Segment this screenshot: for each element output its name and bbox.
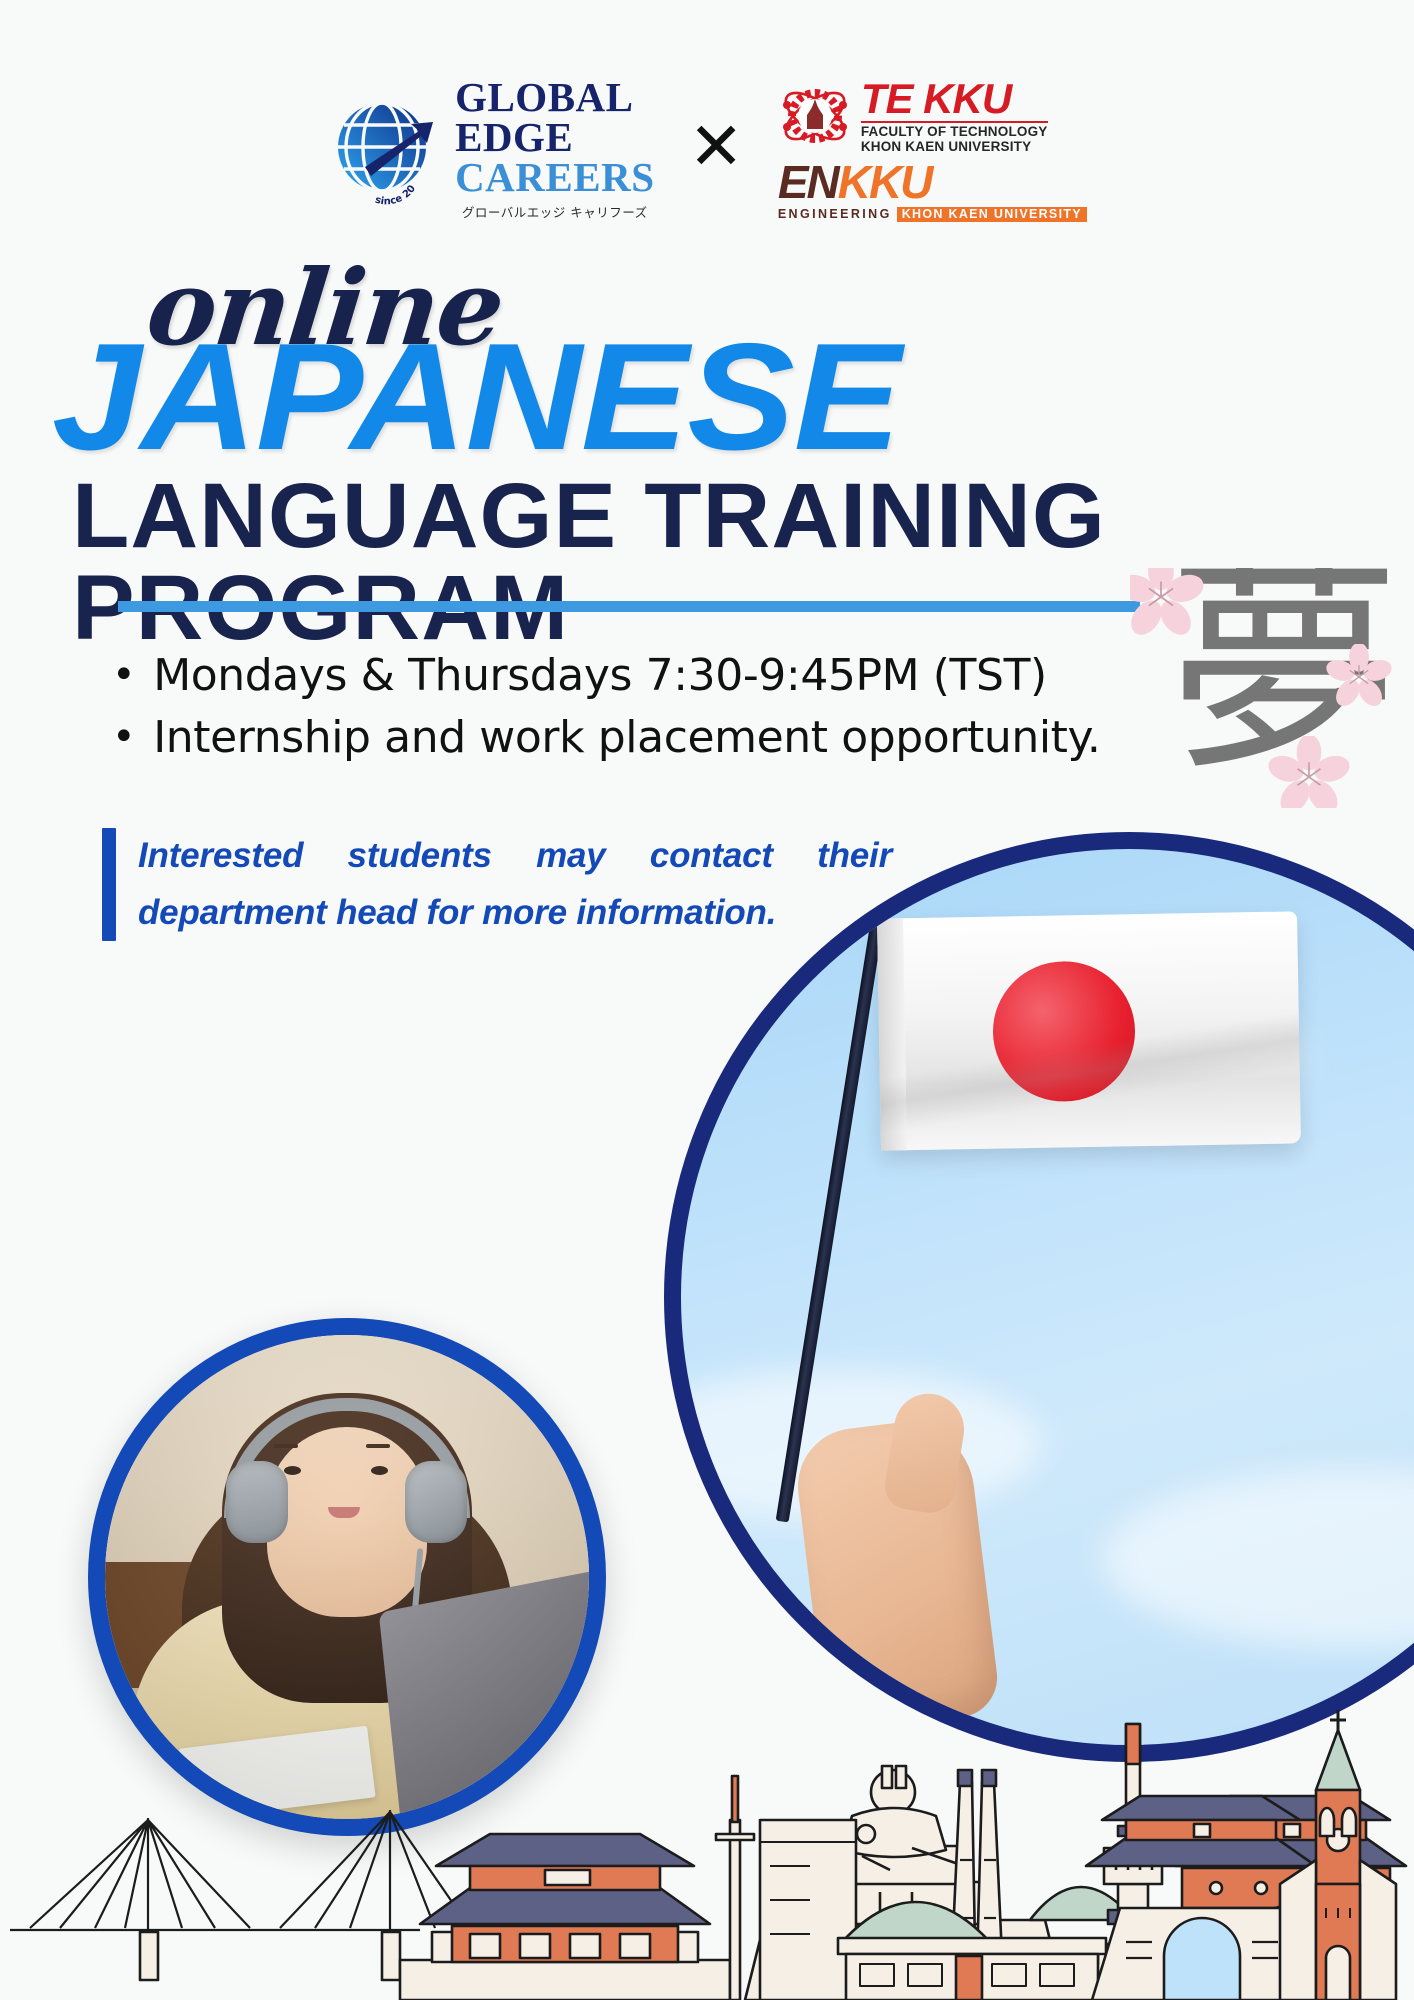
flag-pole-knob bbox=[861, 883, 894, 923]
en-kku-logo: ENKKU ENGINEERING KHON KAEN UNIVERSITY bbox=[778, 159, 1087, 222]
sakura-blossom-icon bbox=[1268, 736, 1350, 808]
title-japanese-headline: JAPANESE bbox=[52, 328, 1303, 468]
flag-cloth bbox=[877, 911, 1301, 1150]
callout-accent-bar bbox=[102, 828, 116, 941]
program-details-list: • Mondays & Thursdays 7:30-9:45PM (TST) … bbox=[112, 645, 1232, 770]
te-kku-university-line: KHON KAEN UNIVERSITY bbox=[861, 140, 1048, 154]
global-edge-careers-logo: since 2025 GLOBAL EDGE CAREERS グローバルエッジ … bbox=[327, 78, 654, 221]
kku-logo-stack: TE KKU FACULTY OF TECHNOLOGY KHON KAEN U… bbox=[778, 78, 1087, 222]
te-kku-faculty-line: FACULTY OF TECHNOLOGY bbox=[861, 125, 1048, 139]
en-kku-engineering-label: ENGINEERING bbox=[778, 208, 892, 221]
globe-icon: since 2025 bbox=[327, 91, 445, 209]
japanese-flag-photo-circle bbox=[664, 832, 1414, 1762]
flag-fold-shading bbox=[877, 911, 1301, 1150]
list-item: • Internship and work placement opportun… bbox=[112, 707, 1232, 769]
global-edge-careers-wordmark: GLOBAL EDGE CAREERS bbox=[455, 78, 654, 197]
te-kku-wordmark: TE KKU bbox=[861, 78, 1048, 123]
bullet-marker-icon: • bbox=[112, 645, 135, 705]
en-kku-en: EN bbox=[778, 156, 838, 208]
title-divider-rule bbox=[118, 601, 1140, 612]
gec-line-3: CAREERS bbox=[455, 158, 654, 198]
gear-atom-icon bbox=[778, 79, 852, 153]
gec-line-1: GLOBAL bbox=[455, 78, 654, 118]
gec-japanese-subtitle: グローバルエッジ キャリフーズ bbox=[455, 202, 654, 221]
bullet-marker-icon: • bbox=[112, 707, 135, 767]
bullet-text: Mondays & Thursdays 7:30-9:45PM (TST) bbox=[153, 645, 1047, 707]
en-kku-university-label: KHON KAEN UNIVERSITY bbox=[897, 207, 1087, 222]
en-kku-kku: KKU bbox=[838, 156, 932, 208]
te-kku-logo: TE KKU FACULTY OF TECHNOLOGY KHON KAEN U… bbox=[778, 78, 1048, 153]
bullet-text: Internship and work placement opportunit… bbox=[153, 707, 1100, 769]
sakura-blossom-icon bbox=[1326, 644, 1392, 710]
partner-logo-row: since 2025 GLOBAL EDGE CAREERS グローバルエッジ … bbox=[0, 78, 1414, 222]
partnership-x-icon: ✕ bbox=[689, 113, 744, 179]
sakura-blossom-icon bbox=[1130, 568, 1204, 640]
list-item: • Mondays & Thursdays 7:30-9:45PM (TST) bbox=[112, 645, 1232, 707]
en-kku-wordmark: ENKKU bbox=[778, 159, 1087, 205]
poster-root: since 2025 GLOBAL EDGE CAREERS グローバルエッジ … bbox=[0, 0, 1414, 2000]
city-skyline-right bbox=[620, 1670, 1414, 2000]
gec-line-2: EDGE bbox=[455, 118, 654, 158]
